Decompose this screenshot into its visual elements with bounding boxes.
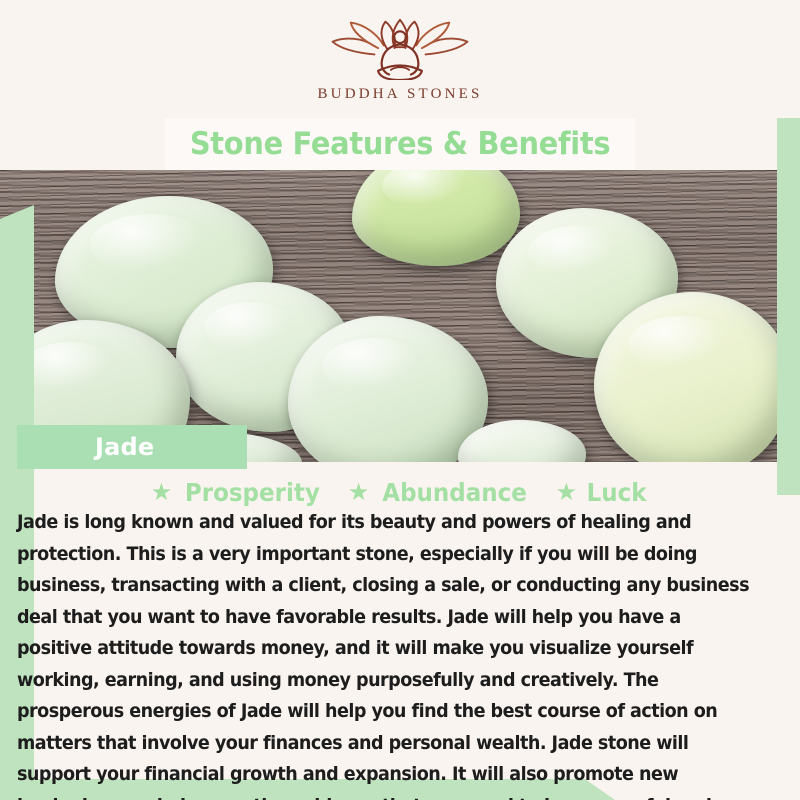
star-icon: ★ [151, 481, 173, 505]
brand-header: BUDDHA STONES [0, 0, 800, 118]
lotus-meditation-icon [326, 18, 474, 80]
brand-name: BUDDHA STONES [317, 86, 482, 103]
benefit-item: ★ Luck [556, 478, 650, 507]
star-icon: ★ [556, 481, 578, 505]
stone-shape [594, 292, 792, 462]
stone-shape [352, 170, 520, 266]
decorative-bar-right [777, 95, 800, 495]
stone-name-badge: Jade [17, 425, 247, 469]
stone-description: Jade is long known and valued for its be… [17, 507, 756, 800]
title-banner: Stone Features & Benefits [165, 118, 635, 170]
star-icon: ★ [348, 481, 370, 505]
infographic-card: BUDDHA STONES Stone Features & Benefits … [0, 0, 800, 800]
benefit-item: ★ Abundance [348, 478, 534, 507]
benefit-label: Luck [587, 478, 647, 507]
jade-stones-photo [0, 170, 800, 462]
page-title: Stone Features & Benefits [190, 126, 610, 162]
benefit-label: Abundance [383, 478, 528, 507]
benefit-item: ★ Prosperity [151, 478, 326, 507]
benefits-list: ★ Prosperity ★ Abundance ★ Luck [0, 478, 800, 507]
stone-name-label: Jade [95, 433, 154, 461]
benefit-label: Prosperity [185, 478, 320, 507]
